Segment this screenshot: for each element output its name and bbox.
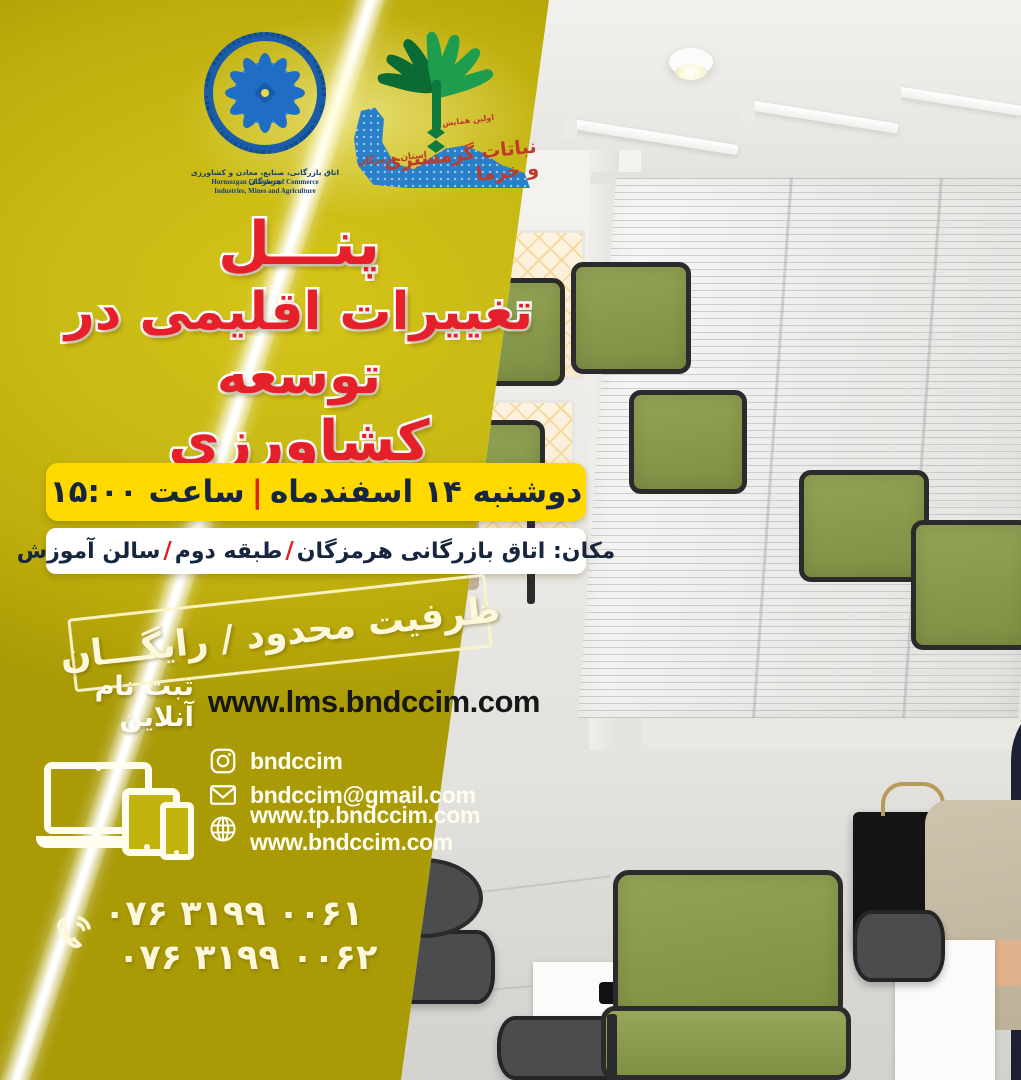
location-separator-2: / bbox=[163, 538, 171, 564]
contact-websites[interactable]: www.tp.bndccim.com www.bndccim.com bbox=[208, 812, 538, 846]
title-line-2: تغییرات اقلیمی در توسعه bbox=[0, 281, 598, 408]
envelope-icon bbox=[208, 780, 238, 810]
tablet-home-dot bbox=[144, 844, 150, 850]
phone-block: ۰۷۶ ۳۱۹۹ ۰۰۶۱ ۰۷۶ ۳۱۹۹ ۰۰۶۲ bbox=[40, 888, 460, 992]
palm-trunk-icon bbox=[432, 80, 441, 130]
location-venue: مکان: اتاق بازرگانی هرمزگان bbox=[297, 539, 615, 564]
date-separator: | bbox=[252, 474, 263, 510]
globe-icon bbox=[208, 814, 238, 844]
event-date: دوشنبه ۱۴ اسفندماه bbox=[270, 474, 582, 510]
laptop-camera-dot bbox=[96, 766, 101, 771]
date-time-bar: دوشنبه ۱۴ اسفندماه | ساعت ۱۵:۰۰ bbox=[46, 463, 586, 521]
chamber-caption-en-line1: Hormozgan Chamber of Commerce bbox=[211, 178, 318, 186]
chair-back bbox=[613, 870, 843, 1020]
chair-back bbox=[629, 390, 747, 494]
location-hall: سالن آموزش bbox=[17, 539, 161, 564]
registration-line: www.lms.bndccim.com ثبت نام آنلاین bbox=[40, 678, 540, 726]
light-mount bbox=[887, 84, 901, 106]
congress-logo: اولین همایش نباتات گرمسیری و خرما استان … bbox=[348, 28, 538, 193]
rosette-icon bbox=[222, 50, 308, 136]
chair-back bbox=[911, 520, 1021, 650]
website-primary: www.tp.bndccim.com bbox=[250, 802, 480, 829]
ceiling-light-icon bbox=[669, 48, 713, 76]
location-floor: طبقه دوم bbox=[175, 539, 283, 564]
devices-icon bbox=[40, 752, 200, 860]
chamber-logo: HORMOZGAN CHAMBER OF COMMERCE, INDUSTRIE… bbox=[190, 26, 340, 176]
chair-seat bbox=[601, 1006, 851, 1080]
event-poster: HORMOZGAN CHAMBER OF COMMERCE, INDUSTRIE… bbox=[0, 0, 1021, 1080]
title-line-1: پنـــل bbox=[0, 208, 598, 281]
event-time: ساعت ۱۵:۰۰ bbox=[50, 474, 245, 510]
light-mount bbox=[741, 100, 755, 122]
contact-list: bndccim bndccim@gmail.com bbox=[208, 744, 538, 846]
poster-content: HORMOZGAN CHAMBER OF COMMERCE, INDUSTRIE… bbox=[0, 0, 620, 1080]
registration-url[interactable]: www.lms.bndccim.com bbox=[208, 684, 540, 720]
contact-instagram[interactable]: bndccim bbox=[208, 744, 538, 778]
website-secondary: www.bndccim.com bbox=[250, 829, 480, 856]
chair-back bbox=[799, 470, 929, 582]
chamber-caption-en: Hormozgan Chamber of Commerce Industries… bbox=[182, 178, 348, 196]
logo-group: HORMOZGAN CHAMBER OF COMMERCE, INDUSTRIE… bbox=[180, 24, 540, 204]
registration-label: ثبت نام آنلاین bbox=[40, 671, 194, 733]
instagram-handle: bndccim bbox=[250, 748, 342, 775]
smartphone-home-dot bbox=[174, 850, 179, 855]
congress-line1: اولین همایش bbox=[442, 113, 495, 128]
location-separator-1: / bbox=[285, 538, 293, 564]
poster-title: پنـــل تغییرات اقلیمی در توسعه کشاورزی bbox=[0, 208, 598, 476]
instagram-icon bbox=[208, 746, 238, 776]
chamber-caption-en-line2: Industries, Mines and Agriculture bbox=[214, 187, 315, 195]
tablet-arm-desk bbox=[853, 910, 945, 982]
phone-number-1: ۰۷۶ ۳۱۹۹ ۰۰۶۱ bbox=[104, 894, 363, 934]
phone-ringing-icon bbox=[50, 912, 96, 958]
phone-number-2: ۰۷۶ ۳۱۹۹ ۰۰۶۲ bbox=[118, 938, 377, 978]
location-bar: مکان: اتاق بازرگانی هرمزگان / طبقه دوم /… bbox=[46, 528, 586, 574]
